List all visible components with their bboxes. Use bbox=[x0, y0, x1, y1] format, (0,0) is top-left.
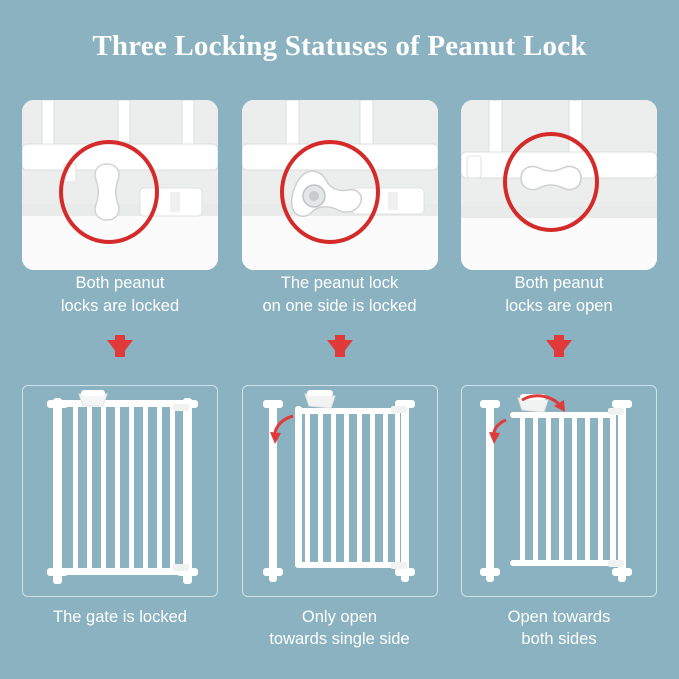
gate-photo-locked bbox=[22, 385, 218, 597]
both-locked-illustration bbox=[22, 100, 218, 270]
caption-gate-both-sides-line1: Open towards bbox=[461, 606, 657, 628]
gate-caption-row: The gate is locked Only open towards sin… bbox=[22, 606, 657, 650]
down-arrow-icon bbox=[327, 340, 353, 357]
caption-gate-single-side: Only open towards single side bbox=[242, 606, 438, 650]
one-side-locked-illustration bbox=[242, 100, 438, 270]
gate-photo-row bbox=[22, 385, 657, 597]
arrow-cell-left bbox=[22, 340, 218, 357]
peanut-knob-vertical bbox=[95, 164, 119, 220]
gate-locked-illustration bbox=[23, 386, 217, 596]
both-open-illustration bbox=[461, 100, 657, 270]
down-arrow-icon bbox=[546, 340, 572, 357]
lock-photo-one-side-locked bbox=[242, 100, 438, 270]
lock-photo-both-locked bbox=[22, 100, 218, 270]
caption-one-side-locked: The peanut lock on one side is locked bbox=[242, 272, 438, 318]
gate-both-sides-illustration bbox=[462, 386, 656, 596]
caption-gate-both-sides: Open towards both sides bbox=[461, 606, 657, 650]
gate-single-side-illustration bbox=[243, 386, 437, 596]
caption-both-locked-line2: locks are locked bbox=[22, 295, 218, 318]
arrow-row bbox=[22, 340, 657, 357]
lock-photo-row bbox=[22, 100, 657, 270]
caption-gate-locked: The gate is locked bbox=[22, 606, 218, 650]
gate-photo-both-sides bbox=[461, 385, 657, 597]
arrow-cell-right bbox=[461, 340, 657, 357]
caption-both-open: Both peanut locks are open bbox=[461, 272, 657, 318]
caption-both-open-line1: Both peanut bbox=[461, 272, 657, 295]
caption-both-locked: Both peanut locks are locked bbox=[22, 272, 218, 318]
gate-latch-icon bbox=[79, 390, 107, 406]
lock-caption-row: Both peanut locks are locked The peanut … bbox=[22, 272, 657, 318]
caption-gate-single-side-line1: Only open bbox=[242, 606, 438, 628]
caption-both-open-line2: locks are open bbox=[461, 295, 657, 318]
caption-gate-both-sides-line2: both sides bbox=[461, 628, 657, 650]
page-root: Three Locking Statuses of Peanut Lock bbox=[0, 0, 679, 679]
caption-one-side-locked-line2: on one side is locked bbox=[242, 295, 438, 318]
arrow-cell-middle bbox=[242, 340, 438, 357]
page-title: Three Locking Statuses of Peanut Lock bbox=[0, 30, 679, 63]
caption-one-side-locked-line1: The peanut lock bbox=[242, 272, 438, 295]
gate-photo-single-side bbox=[242, 385, 438, 597]
caption-gate-single-side-line2: towards single side bbox=[242, 628, 438, 650]
lock-photo-both-open bbox=[461, 100, 657, 270]
caption-both-locked-line1: Both peanut bbox=[22, 272, 218, 295]
down-arrow-icon bbox=[107, 340, 133, 357]
gate-latch-icon bbox=[305, 390, 335, 408]
caption-gate-locked-line1: The gate is locked bbox=[22, 606, 218, 628]
